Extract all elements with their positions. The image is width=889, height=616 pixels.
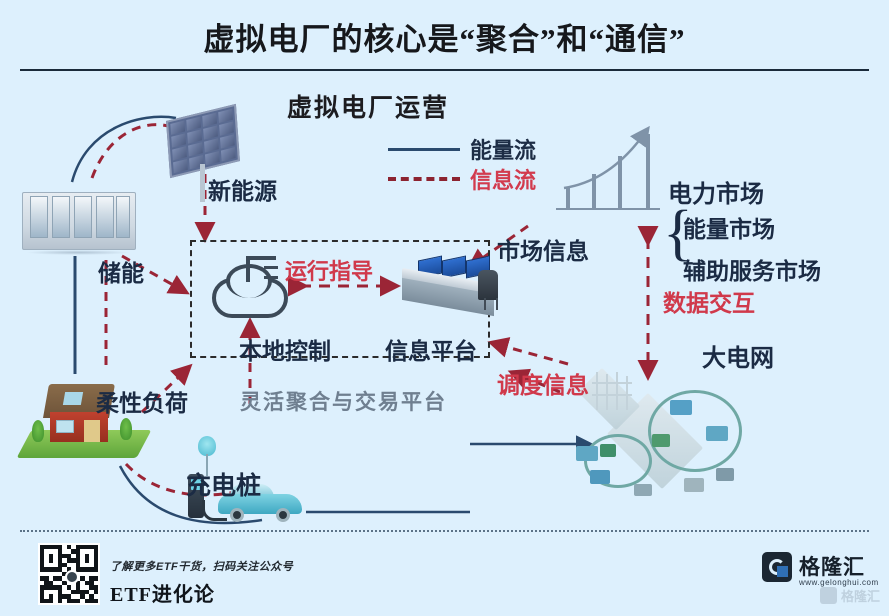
control-room-icon [400, 250, 506, 324]
gelonghui-mark-icon [762, 552, 792, 582]
battery-rack-icon [22, 188, 134, 254]
label-info-platform: 信息平台 [385, 332, 477, 366]
watermark: 格隆汇 [820, 586, 880, 605]
legend: 能量流 信息流 [388, 134, 536, 194]
watermark-mark-icon [820, 587, 837, 604]
label-renewable: 新能源 [208, 172, 277, 206]
label-local-control: 本地控制 [239, 332, 331, 366]
footer: 了解更多ETF干货，扫码关注公众号 ETF进化论 格隆汇 www.gelongh… [0, 530, 889, 616]
qr-center-logo-icon [65, 570, 79, 584]
growth-arrow-icon [556, 126, 664, 216]
energy-arrow-solar-to-storage [72, 117, 176, 182]
slide-root: 虚拟电厂的核心是“聚合”和“通信” 虚拟电厂运营 能量流 信息流 [0, 0, 889, 616]
diagram-title: 虚拟电厂运营 [287, 88, 449, 124]
label-ev-charger: 充电桩 [186, 466, 261, 502]
label-dispatch-info: 调度信息 [497, 366, 589, 400]
info-arrow-dispatch-to-box [496, 344, 568, 364]
solid-line-icon [388, 148, 460, 151]
qr-code-icon[interactable] [38, 543, 100, 605]
label-main-grid: 大电网 [702, 338, 774, 373]
label-energy-market: 能量市场 [683, 210, 775, 244]
legend-item-energy-flow: 能量流 [388, 134, 536, 164]
header-divider [20, 69, 869, 71]
qr-caption: 了解更多ETF干货，扫码关注公众号 [110, 558, 293, 574]
label-operation-guide: 运行指导 [285, 254, 373, 286]
brand-account-name: ETF进化论 [110, 578, 215, 607]
power-grid-icon [574, 372, 764, 520]
label-storage: 储能 [98, 254, 144, 288]
label-ancillary-market: 辅助服务市场 [683, 252, 821, 286]
legend-label-info-flow: 信息流 [470, 163, 536, 195]
header: 虚拟电厂的核心是“聚合”和“通信” [0, 0, 889, 72]
legend-label-energy-flow: 能量流 [470, 133, 536, 165]
label-market-info: 市场信息 [497, 232, 589, 266]
site-name: 格隆汇 [799, 557, 865, 578]
dashed-line-icon [388, 177, 460, 181]
footer-divider [20, 530, 869, 532]
legend-item-info-flow: 信息流 [388, 164, 536, 194]
label-data-exchange: 数据交互 [663, 284, 755, 318]
label-flexible-load: 柔性负荷 [96, 384, 188, 418]
page-title: 虚拟电厂的核心是“聚合”和“通信” [0, 14, 889, 59]
watermark-text: 格隆汇 [841, 586, 880, 605]
growth-chart-icon [556, 126, 664, 216]
info-arrow-storage-to-solar [92, 125, 168, 178]
diagram-canvas: 虚拟电厂运营 能量流 信息流 [0, 74, 889, 530]
cloud-server-icon [212, 256, 288, 316]
aggregation-platform-caption: 灵活聚合与交易平台 [240, 386, 447, 416]
